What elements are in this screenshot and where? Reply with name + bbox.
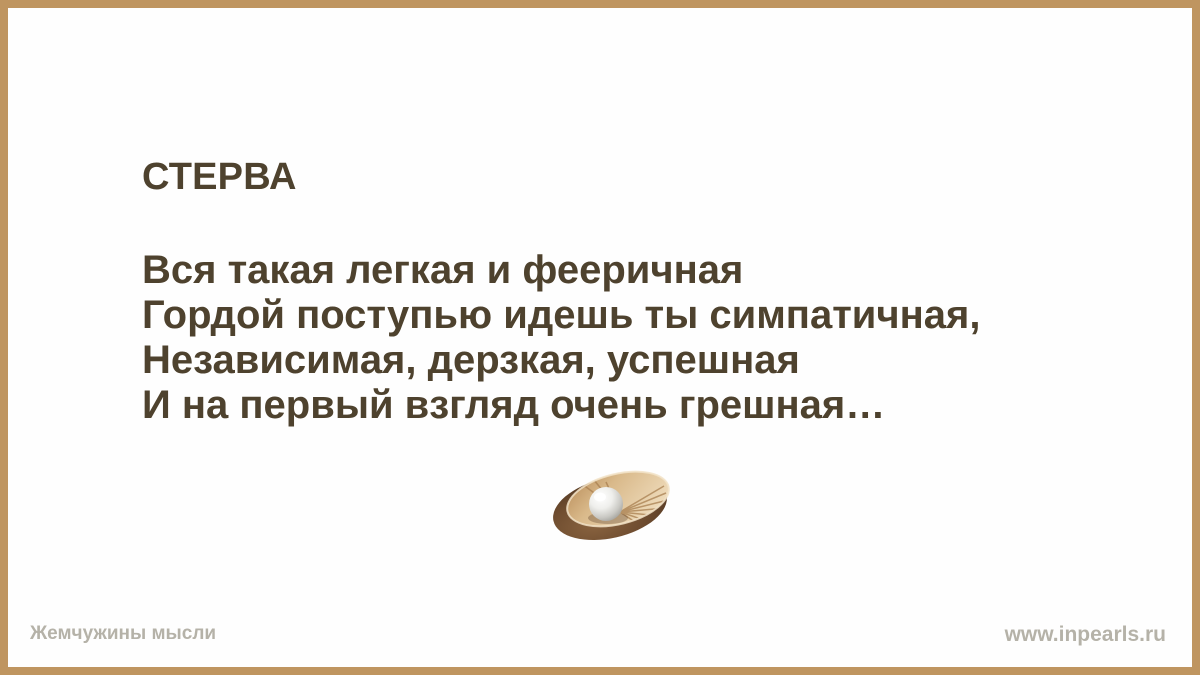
- quote-body: Вся такая легкая и фееричная Гордой пост…: [142, 248, 1142, 428]
- quote-line: Гордой поступью идешь ты симпатичная,: [142, 293, 1142, 338]
- site-url-label[interactable]: www.inpearls.ru: [1005, 623, 1166, 647]
- quote-card: СТЕРВА Вся такая легкая и фееричная Горд…: [0, 0, 1200, 675]
- oyster-shell-with-pearl-icon: [546, 466, 682, 544]
- quote-line: И на первый взгляд очень грешная…: [142, 383, 1142, 428]
- quote-line: Независимая, дерзкая, успешная: [142, 338, 1142, 383]
- brand-label: Жемчужины мысли: [30, 623, 216, 645]
- quote-line: Вся такая легкая и фееричная: [142, 248, 1142, 293]
- page-title: СТЕРВА: [142, 156, 297, 199]
